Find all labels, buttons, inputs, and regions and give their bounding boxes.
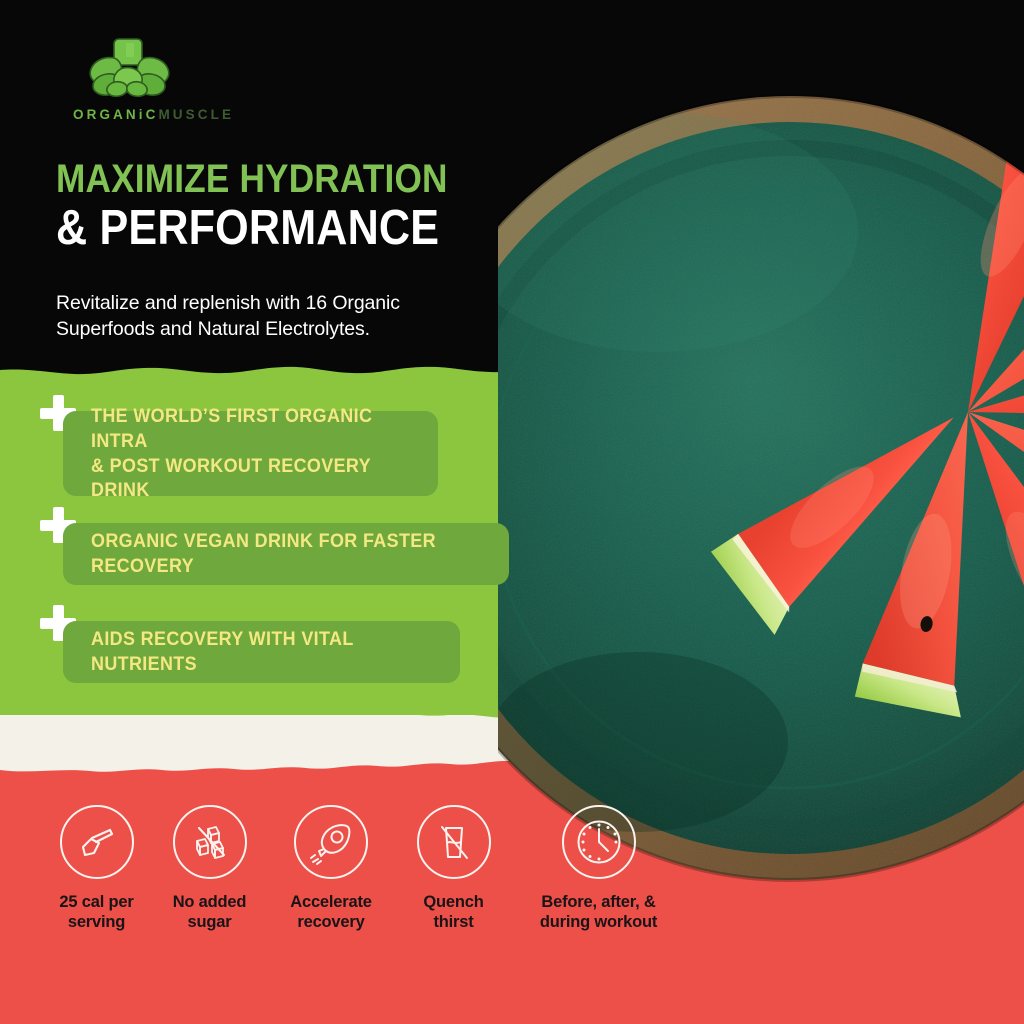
flexing-muscle-leaf-icon bbox=[85, 34, 175, 102]
promo-graphic: ORGANiCMUSCLE MAXIMIZE HYDRATION & PERFO… bbox=[0, 0, 1024, 1024]
headline-line-1: MAXIMIZE HYDRATION bbox=[56, 160, 470, 199]
page-title: MAXIMIZE HYDRATION & PERFORMANCE bbox=[56, 160, 526, 252]
drink-glass-icon bbox=[417, 805, 491, 879]
benefit-item[interactable]: No added sugar bbox=[153, 805, 266, 933]
benefit-label: Quench thirst bbox=[423, 893, 483, 933]
brand-wordmark: ORGANiCMUSCLE bbox=[73, 107, 277, 122]
brand-logo[interactable]: ORGANiCMUSCLE bbox=[57, 34, 277, 122]
content-column: ORGANiCMUSCLE MAXIMIZE HYDRATION & PERFO… bbox=[0, 0, 540, 1024]
feature-item[interactable]: AIDS RECOVERY WITH VITAL NUTRIENTS bbox=[63, 621, 460, 683]
feature-item[interactable]: THE WORLD’S FIRST ORGANIC INTRA & POST W… bbox=[63, 411, 438, 496]
brand-name-organic: ORGANiC bbox=[73, 107, 158, 122]
brand-name-muscle: MUSCLE bbox=[158, 107, 234, 122]
subheadline: Revitalize and replenish with 16 Organic… bbox=[56, 291, 496, 343]
feature-item[interactable]: ORGANIC VEGAN DRINK FOR FASTER RECOVERY bbox=[63, 523, 509, 585]
benefit-label: Before, after, & during workout bbox=[540, 893, 657, 933]
headline-line-2: & PERFORMANCE bbox=[56, 205, 470, 253]
clock-icon bbox=[562, 805, 636, 879]
benefit-row: 25 cal per serving bbox=[40, 805, 690, 933]
no-sugar-cubes-icon bbox=[173, 805, 247, 879]
benefit-label: No added sugar bbox=[173, 893, 247, 933]
scoop-icon bbox=[60, 805, 134, 879]
feature-label: THE WORLD’S FIRST ORGANIC INTRA & POST W… bbox=[91, 404, 410, 504]
benefit-label: 25 cal per serving bbox=[59, 893, 133, 933]
benefit-label: Accelerate recovery bbox=[290, 893, 371, 933]
feature-label: ORGANIC VEGAN DRINK FOR FASTER RECOVERY bbox=[91, 529, 476, 579]
benefit-item[interactable]: Accelerate recovery bbox=[266, 805, 396, 933]
benefit-item[interactable]: Before, after, & during workout bbox=[511, 805, 686, 933]
feature-label: AIDS RECOVERY WITH VITAL NUTRIENTS bbox=[91, 627, 430, 677]
benefit-item[interactable]: Quench thirst bbox=[396, 805, 511, 933]
benefit-item[interactable]: 25 cal per serving bbox=[40, 805, 153, 933]
rocket-icon bbox=[294, 805, 368, 879]
